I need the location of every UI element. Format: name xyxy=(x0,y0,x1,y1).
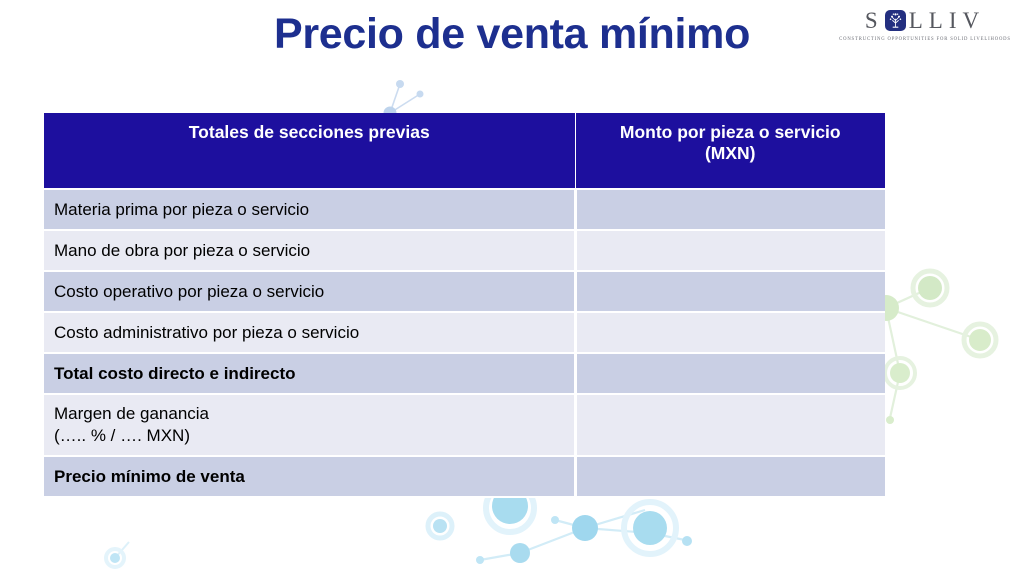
row-label-cell: Precio mínimo de venta xyxy=(44,456,575,497)
column-header-label: Totales de secciones previas xyxy=(44,113,575,189)
row-amount-cell[interactable] xyxy=(575,189,885,230)
table-header: Totales de secciones previas Monto por p… xyxy=(44,113,885,189)
table-body: Materia prima por pieza o servicioMano d… xyxy=(44,189,885,497)
row-label-cell: Margen de ganancia(….. % / …. MXN) xyxy=(44,394,575,456)
row-amount-cell[interactable] xyxy=(575,230,885,271)
row-label-line2: (….. % / …. MXN) xyxy=(54,425,574,447)
row-amount-cell[interactable] xyxy=(575,394,885,456)
row-label-cell: Total costo directo e indirecto xyxy=(44,353,575,394)
row-label-line1: Margen de ganancia xyxy=(54,403,574,425)
row-label-line1: Costo operativo por pieza o servicio xyxy=(54,281,574,303)
molecule-right-icon xyxy=(878,258,1024,448)
table-row: Mano de obra por pieza o servicio xyxy=(44,230,885,271)
slide-canvas: S xyxy=(0,0,1024,576)
table-row: Margen de ganancia(….. % / …. MXN) xyxy=(44,394,885,456)
page-title: Precio de venta mínimo xyxy=(0,10,1024,59)
table-header-row: Totales de secciones previas Monto por p… xyxy=(44,113,885,189)
table-row: Costo operativo por pieza o servicio xyxy=(44,271,885,312)
minimum-sale-price-table: Totales de secciones previas Monto por p… xyxy=(44,113,885,498)
column-header-amount-line1: Monto por pieza o servicio xyxy=(584,122,878,143)
row-amount-cell[interactable] xyxy=(575,312,885,353)
row-label-line1: Total costo directo e indirecto xyxy=(54,363,574,385)
column-header-amount: Monto por pieza o servicio (MXN) xyxy=(575,113,885,189)
row-label-line1: Precio mínimo de venta xyxy=(54,466,574,488)
molecule-bottom-icon xyxy=(395,498,735,576)
table-row: Total costo directo e indirecto xyxy=(44,353,885,394)
row-label-line1: Materia prima por pieza o servicio xyxy=(54,199,574,221)
table-row: Materia prima por pieza o servicio xyxy=(44,189,885,230)
row-amount-cell[interactable] xyxy=(575,353,885,394)
molecule-bottom-left-icon xyxy=(95,540,155,576)
row-amount-cell[interactable] xyxy=(575,456,885,497)
row-label-line1: Mano de obra por pieza o servicio xyxy=(54,240,574,262)
table-row: Costo administrativo por pieza o servici… xyxy=(44,312,885,353)
row-label-cell: Materia prima por pieza o servicio xyxy=(44,189,575,230)
row-label-line1: Costo administrativo por pieza o servici… xyxy=(54,322,574,344)
table-row: Precio mínimo de venta xyxy=(44,456,885,497)
column-header-amount-line2: (MXN) xyxy=(584,143,878,164)
row-label-cell: Costo operativo por pieza o servicio xyxy=(44,271,575,312)
row-label-cell: Mano de obra por pieza o servicio xyxy=(44,230,575,271)
row-amount-cell[interactable] xyxy=(575,271,885,312)
row-label-cell: Costo administrativo por pieza o servici… xyxy=(44,312,575,353)
